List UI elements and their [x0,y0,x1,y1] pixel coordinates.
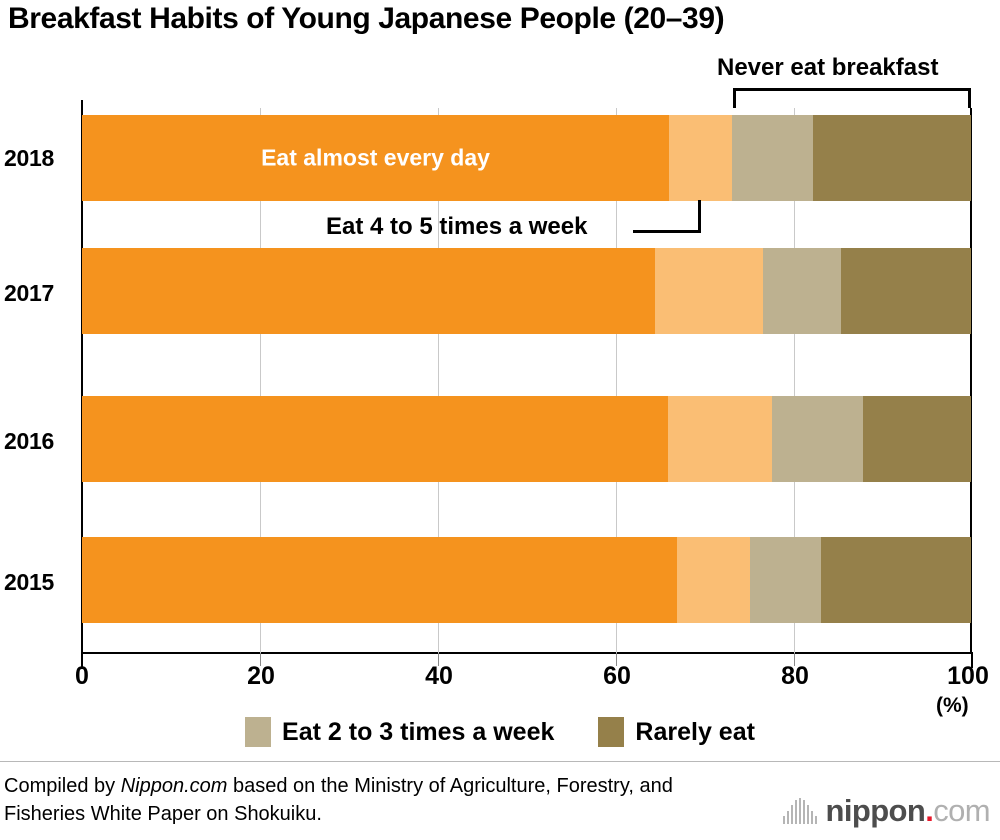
segment-2018-eat-4-to-5-times-a-week[interactable] [669,115,732,201]
nippon-com-logo[interactable]: nippon.com [783,795,990,826]
chart-legend: Eat 2 to 3 times a week Rarely eat [0,717,1000,747]
footer-divider [0,761,1000,762]
legend-label-eat-2-to-3: Eat 2 to 3 times a week [282,718,554,747]
bar-row-2015 [82,537,972,623]
x-tick-label-60: 60 [582,662,652,691]
annotation-never-eat-breakfast: Never eat breakfast [717,54,938,82]
segment-label-eat-almost-every-day: Eat almost every day [261,145,490,172]
segment-2017-rarely-eat[interactable] [841,248,971,334]
y-axis-label-2015: 2015 [4,569,74,596]
page-title: Breakfast Habits of Young Japanese Peopl… [8,2,724,36]
source-note-prefix: Compiled by [4,775,121,797]
legend-swatch-icon-eat-2-to-3 [245,717,271,747]
y-axis-label-2018: 2018 [4,145,74,172]
legend-label-rarely-eat: Rarely eat [635,718,755,747]
segment-2018-rarely-eat[interactable] [813,115,971,201]
annotation-leader-line-horizontal [633,230,701,233]
legend-swatch-icon-rarely-eat [598,717,624,747]
segment-2015-eat-2-to-3-times-a-week[interactable] [750,537,821,623]
logo-wordmark: nippon.com [826,795,990,826]
x-tick-label-100: 100 [933,662,1000,691]
segment-2017-eat-2-to-3-times-a-week[interactable] [763,248,841,334]
chart-plot-area: Eat almost every day [82,108,972,653]
bar-row-2016 [82,396,972,482]
segment-2015-eat-almost-every-day[interactable] [82,537,677,623]
bar-row-2018: Eat almost every day [82,115,972,201]
logo-text-nippon: nippon [826,793,926,828]
soundwave-icon [783,798,817,824]
logo-text-com: com [933,793,990,828]
annotation-never-eat-bracket [733,88,971,108]
segment-2017-eat-almost-every-day[interactable] [82,248,655,334]
x-axis-unit-label: (%) [936,694,969,718]
segment-2015-eat-4-to-5-times-a-week[interactable] [677,537,750,623]
annotation-eat-4-to-5-times-a-week: Eat 4 to 5 times a week [326,213,587,241]
legend-item-rarely-eat[interactable]: Rarely eat [598,717,755,747]
legend-item-eat-2-to-3-times-a-week[interactable]: Eat 2 to 3 times a week [245,717,554,747]
segment-2017-eat-4-to-5-times-a-week[interactable] [655,248,763,334]
segment-2016-eat-2-to-3-times-a-week[interactable] [772,396,863,482]
x-tick-label-40: 40 [404,662,474,691]
segment-2016-eat-almost-every-day[interactable] [82,396,668,482]
segment-2018-eat-2-to-3-times-a-week[interactable] [732,115,813,201]
y-axis-label-2017: 2017 [4,280,74,307]
segment-2016-eat-4-to-5-times-a-week[interactable] [668,396,772,482]
x-tick-label-0: 0 [47,662,117,691]
x-tick-label-20: 20 [226,662,296,691]
segment-2018-eat-almost-every-day[interactable]: Eat almost every day [82,115,669,201]
annotation-leader-line-vertical [698,200,701,233]
x-tick-label-80: 80 [760,662,830,691]
segment-2016-rarely-eat[interactable] [863,396,971,482]
y-axis-label-2016: 2016 [4,428,74,455]
segment-2015-rarely-eat[interactable] [821,537,971,623]
source-note: Compiled by Nippon.com based on the Mini… [4,772,704,828]
bar-row-2017 [82,248,972,334]
source-note-publisher: Nippon.com [121,775,228,797]
